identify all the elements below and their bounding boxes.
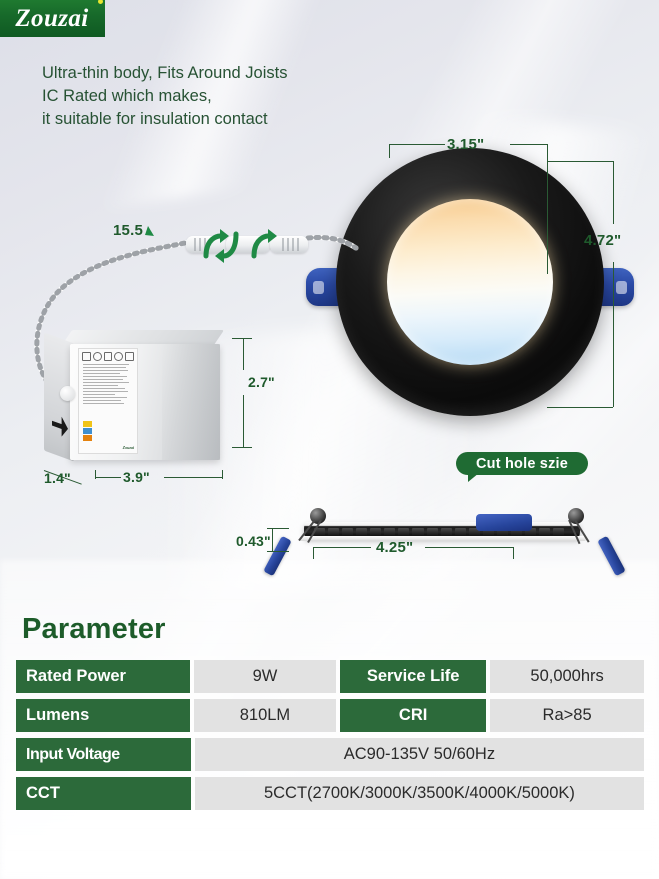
- cell-value-rated-power: 9W: [194, 660, 336, 693]
- junction-box-label: Zouzai: [78, 348, 138, 454]
- dim-line: [613, 262, 614, 407]
- dim-line: [313, 547, 371, 548]
- headline-line-2: IC Rated which makes,: [42, 85, 462, 108]
- cell-value-cct: 5CCT(2700K/3000K/3500K/4000K/5000K): [195, 777, 644, 810]
- spring-clip-right: [597, 536, 625, 576]
- label-brand-text: Zouzai: [123, 445, 134, 450]
- dim-line: [547, 407, 613, 408]
- brand-logo: Zouzai: [0, 0, 105, 37]
- dim-line: [95, 477, 121, 478]
- headline: Ultra-thin body, Fits Around Joists IC R…: [42, 62, 462, 131]
- dim-line: [547, 161, 613, 162]
- cable-grommet: [60, 386, 75, 401]
- logo-dot-icon: [98, 0, 103, 4]
- panel-rim: [300, 536, 586, 541]
- top-mount-clip: [476, 514, 532, 531]
- dim-line: [267, 551, 289, 552]
- dim-tick: [222, 470, 223, 479]
- label-fine-print: [79, 362, 137, 408]
- dim-tick: [313, 547, 314, 559]
- dim-tick: [389, 144, 390, 158]
- table-row: CCT 5CCT(2700K/3000K/3500K/4000K/5000K): [16, 777, 644, 810]
- ce-mark-icon: [93, 352, 102, 361]
- headline-line-1: Ultra-thin body, Fits Around Joists: [42, 62, 462, 85]
- cell-label-lumens: Lumens: [16, 699, 190, 732]
- dim-line: [425, 547, 513, 548]
- downlight-lens: [387, 199, 553, 365]
- dim-label-thickness: 0.43": [236, 533, 271, 549]
- dim-line: [243, 395, 244, 447]
- table-row: Rated Power 9W Service Life 50,000hrs: [16, 660, 644, 693]
- cable-length-label: 15.5: [113, 222, 143, 239]
- dim-label-height: 4.72": [584, 232, 621, 249]
- cell-label-cri: CRI: [340, 699, 486, 732]
- brand-logo-text: Zouzai: [15, 6, 89, 31]
- downlight-bezel: [336, 148, 604, 416]
- dim-label-width: 3.15": [447, 136, 484, 153]
- dim-label-box-depth: 1.4": [44, 470, 71, 486]
- damp-rated-icon: [125, 352, 134, 361]
- side-view-image: [252, 500, 642, 590]
- cell-label-rated-power: Rated Power: [16, 660, 190, 693]
- recycle-icon: [114, 352, 123, 361]
- cell-label-service-life: Service Life: [340, 660, 486, 693]
- dim-label-cut-width: 4.25": [376, 539, 413, 556]
- certification-icons: [79, 349, 137, 362]
- dim-line: [232, 447, 252, 448]
- product-infographic: Zouzai Ultra-thin body, Fits Around Jois…: [0, 0, 659, 879]
- dim-line: [272, 528, 273, 551]
- dim-tick: [513, 547, 514, 559]
- main-downlight-image: [336, 148, 604, 416]
- cut-hole-badge: Cut hole szie: [456, 452, 588, 475]
- dim-label-box-width: 3.9": [123, 469, 150, 485]
- dim-line: [613, 161, 614, 224]
- dim-line: [389, 144, 445, 145]
- dim-line: [243, 338, 244, 370]
- parameter-table: Rated Power 9W Service Life 50,000hrs Lu…: [16, 660, 644, 816]
- dim-line: [510, 144, 547, 145]
- dim-line: [232, 338, 252, 339]
- dim-line: [267, 528, 289, 529]
- parameter-title: Parameter: [22, 613, 166, 646]
- junction-box-image: Zouzai: [44, 330, 234, 470]
- cell-value-lumens: 810LM: [194, 699, 336, 732]
- cut-hole-badge-label: Cut hole szie: [476, 456, 568, 472]
- cell-label-input-voltage: Input Voltage: [16, 738, 191, 771]
- table-row: Input Voltage AC90-135V 50/60Hz: [16, 738, 644, 771]
- cell-value-cri: Ra>85: [490, 699, 644, 732]
- dim-line: [164, 477, 222, 478]
- color-swatch-bars: [83, 421, 92, 447]
- ul-mark-icon: [104, 352, 113, 361]
- cell-label-cct: CCT: [16, 777, 191, 810]
- dim-tick: [95, 470, 96, 479]
- twist-arrows-icon: [196, 226, 286, 264]
- dim-label-box-height: 2.7": [248, 374, 275, 390]
- cell-value-input-voltage: AC90-135V 50/60Hz: [195, 738, 644, 771]
- cell-value-service-life: 50,000hrs: [490, 660, 644, 693]
- dim-tick: [547, 144, 548, 274]
- table-row: Lumens 810LM CRI Ra>85: [16, 699, 644, 732]
- headline-line-3: it suitable for insulation contact: [42, 108, 462, 131]
- wee-bin-icon: [82, 352, 91, 361]
